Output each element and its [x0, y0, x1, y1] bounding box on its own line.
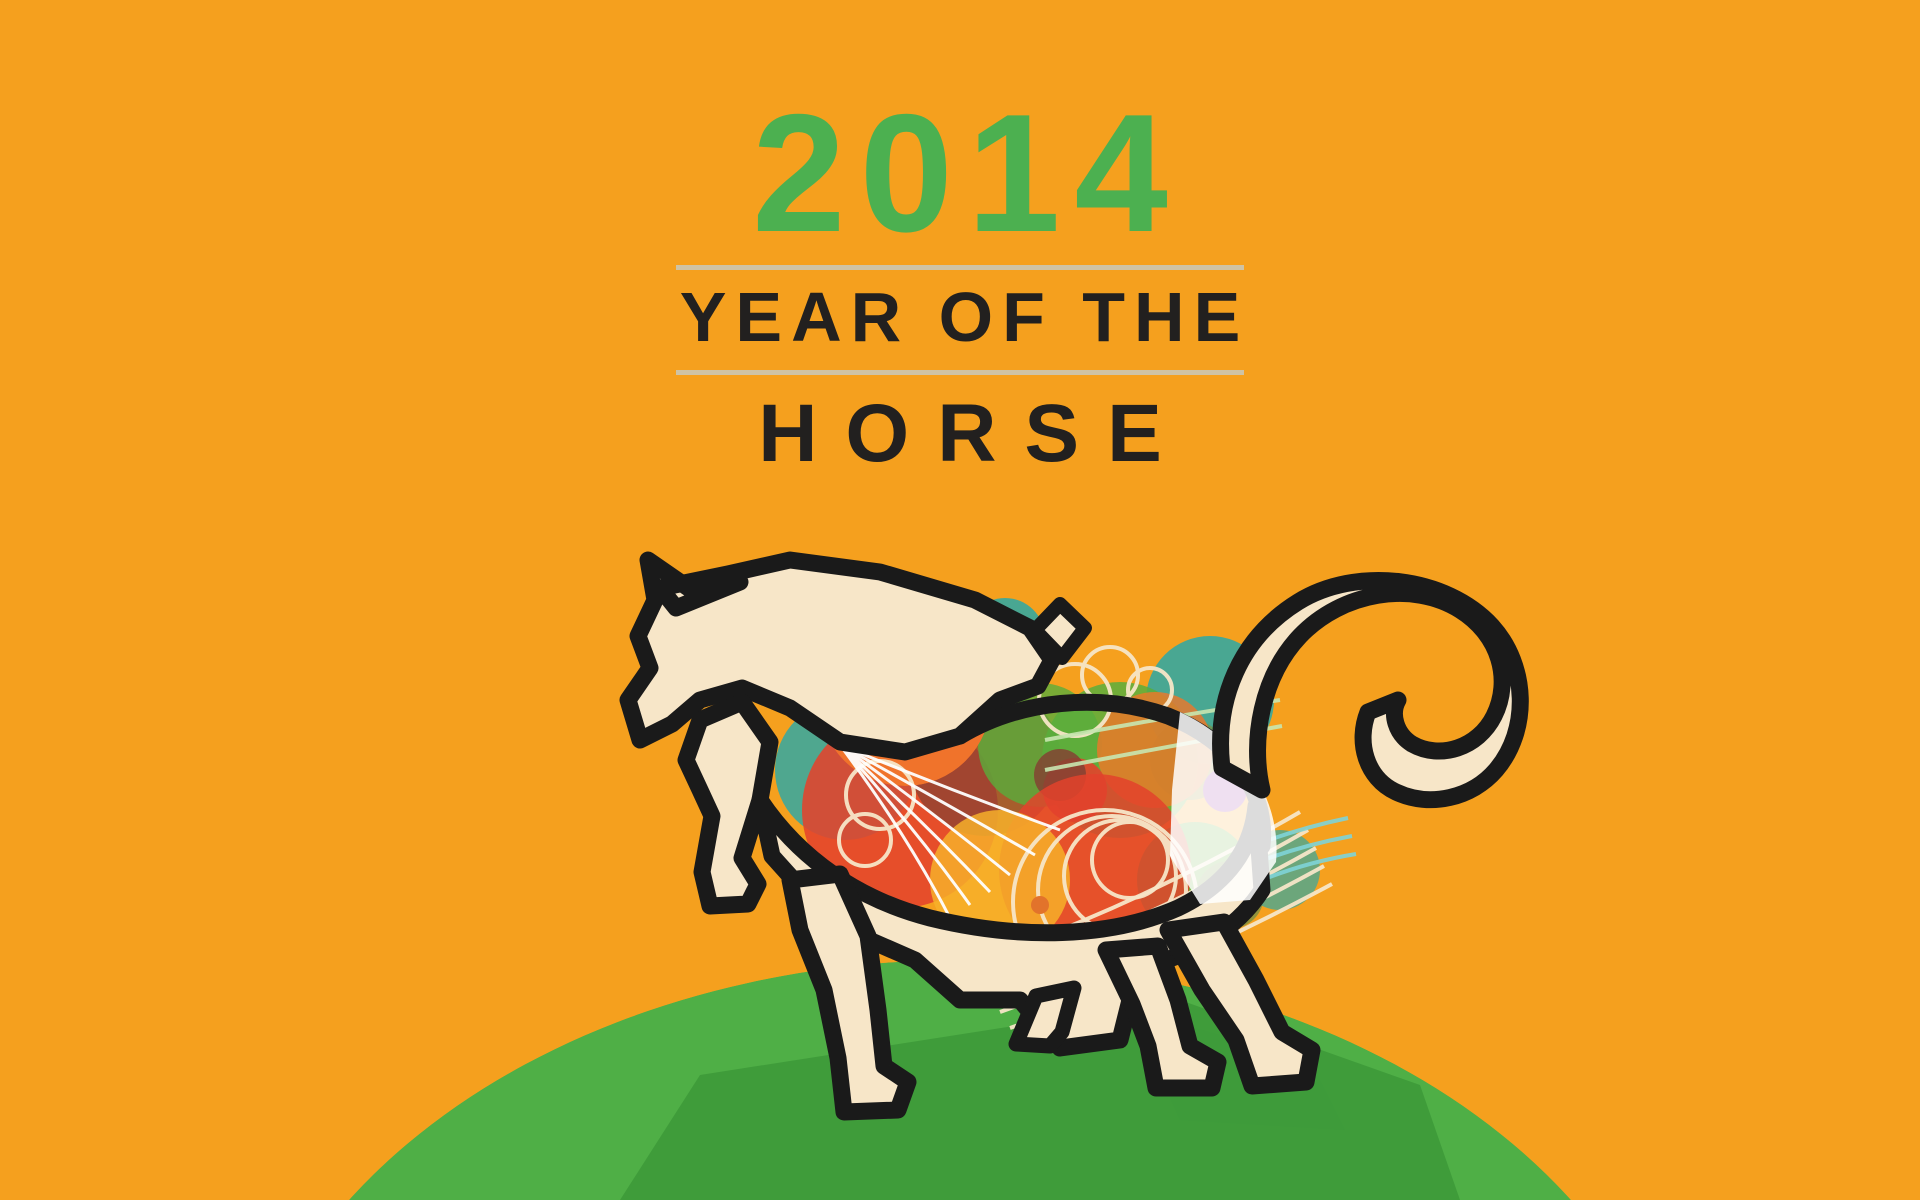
headline-text: HORSE	[0, 375, 1920, 475]
poster-canvas: 2014 YEAR OF THE HORSE	[0, 0, 1920, 1200]
subtitle-text: YEAR OF THE	[0, 270, 1920, 362]
horse-eye-dot	[1031, 896, 1049, 914]
horse-tail	[1221, 580, 1521, 799]
title-block: 2014 YEAR OF THE HORSE	[0, 96, 1920, 475]
year-text: 2014	[0, 96, 1920, 251]
